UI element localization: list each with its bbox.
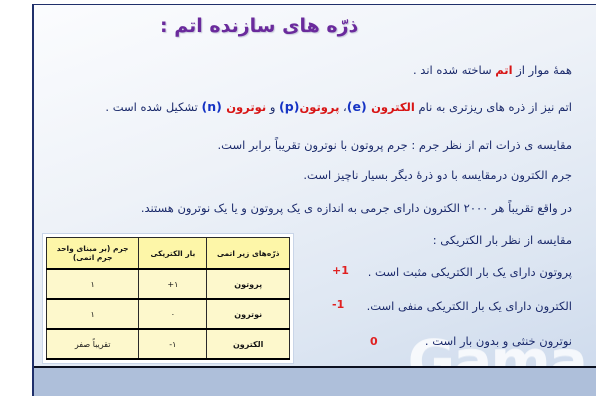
subatomic-particles-table-frame: ذرّه‌های زیر اتمی بار الکتریکی جرم (بر م… <box>42 233 294 364</box>
body-line-4-electron-mass: جرم الکترون درمقایسه با دو ذرهٔ دیگر بسی… <box>303 168 572 182</box>
cell-particle-proton: پروتون <box>207 269 290 299</box>
cell-charge-proton: ۱+ <box>139 269 207 299</box>
line2-text-b: تشکیل شده است . <box>105 100 201 114</box>
body-line-2: اتم نیز از ذره های ریزتری به نام الکترون… <box>105 100 572 114</box>
line2-sep-2: و <box>266 100 279 114</box>
line2-term-electron: الکترون <box>371 100 415 114</box>
line1-highlight-atom: اتم <box>495 63 512 77</box>
slide-canvas: Gama ذرّه های سازنده اتم : همهٔ موار از … <box>32 4 596 396</box>
charge-tag-proton: +1 <box>332 264 349 277</box>
cell-mass-neutron: ۱ <box>47 299 139 329</box>
body-line-6-charge-heading: مقایسه از نظر بار الکتریکی : <box>433 233 572 247</box>
body-line-7-proton-charge: پروتون دارای یک بار الکتریکی مثبت است . <box>368 265 572 279</box>
subatomic-particles-table: ذرّه‌های زیر اتمی بار الکتریکی جرم (بر م… <box>46 237 290 360</box>
top-margin-gutter <box>0 0 600 4</box>
line2-symbol-p: (p) <box>279 99 299 114</box>
table-row: الکترون ۱- تقریباً صفر <box>47 329 290 359</box>
charge-tag-neutron: 0 <box>370 335 378 348</box>
line2-sep-1: ، <box>339 100 346 114</box>
table-body: پروتون ۱+ ۱ نوترون ۰ ۱ الکترون ۱- تقریبا… <box>47 269 290 359</box>
cell-charge-neutron: ۰ <box>139 299 207 329</box>
cell-charge-electron: ۱- <box>139 329 207 359</box>
table-head: ذرّه‌های زیر اتمی بار الکتریکی جرم (بر م… <box>47 238 290 270</box>
table-row: نوترون ۰ ۱ <box>47 299 290 329</box>
body-line-3-mass-comparison: مقایسه ی ذرات اتم از نظر جرم : جرم پروتو… <box>218 138 572 152</box>
line2-term-neutron: نوترون <box>226 100 266 114</box>
line2-symbol-n: (n) <box>202 99 227 114</box>
body-line-5-2000-electrons: در واقع تقریباً هر ۲۰۰۰ الکترون دارای جر… <box>141 201 572 215</box>
charge-tag-electron: -1 <box>332 298 344 311</box>
cell-particle-electron: الکترون <box>207 329 290 359</box>
cell-mass-electron: تقریباً صفر <box>47 329 139 359</box>
line1-text-b: ساخته شده اند . <box>413 63 495 77</box>
page-title: ذرّه های سازنده اتم : <box>160 15 580 37</box>
line1-text-a: همهٔ موار از <box>513 63 572 77</box>
line2-text-a: اتم نیز از ذره های ریزتری به نام <box>415 100 572 114</box>
cell-particle-neutron: نوترون <box>207 299 290 329</box>
bottom-blue-band <box>34 368 596 396</box>
line2-symbol-e: (e) <box>347 99 371 114</box>
body-line-8-electron-charge: الکترون دارای یک بار الکتریکی منفی است. <box>367 299 572 313</box>
left-margin-gutter <box>0 0 32 400</box>
table-row: پروتون ۱+ ۱ <box>47 269 290 299</box>
table-header-charge: بار الکتریکی <box>139 238 207 270</box>
body-line-9-neutron-charge: نوترون خنثی و بدون بار است . <box>425 334 572 348</box>
slide-root: Gama ذرّه های سازنده اتم : همهٔ موار از … <box>0 0 600 400</box>
body-line-1: همهٔ موار از اتم ساخته شده اند . <box>413 63 572 77</box>
line2-term-proton: پروتون <box>299 100 339 114</box>
table-header-mass: جرم (بر مبنای واحد جرم اتمی) <box>47 238 139 270</box>
cell-mass-proton: ۱ <box>47 269 139 299</box>
table-header-particle: ذرّه‌های زیر اتمی <box>207 238 290 270</box>
table-header-row: ذرّه‌های زیر اتمی بار الکتریکی جرم (بر م… <box>47 238 290 270</box>
